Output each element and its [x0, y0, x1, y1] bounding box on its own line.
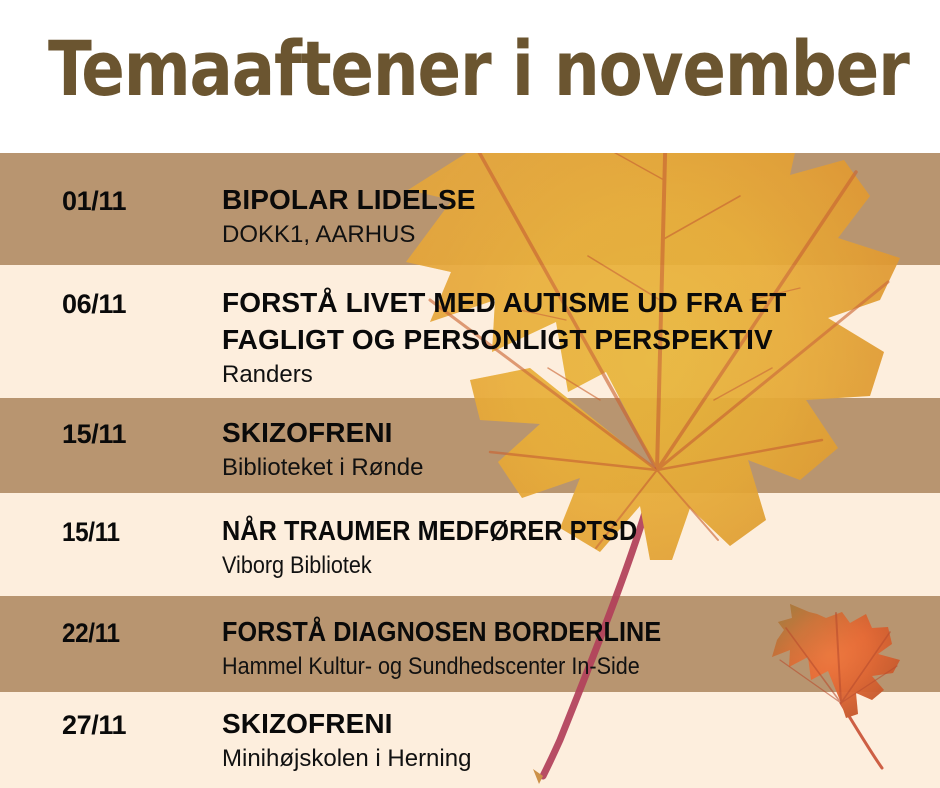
event-venue: Hammel Kultur- og Sundhedscenter In-Side — [222, 651, 859, 682]
event-details: BIPOLAR LIDELSE DOKK1, AARHUS — [222, 181, 930, 250]
event-venue: Randers — [222, 359, 930, 390]
poster-canvas: Temaaftener i november 01/11 BIPOLAR LID… — [0, 0, 940, 788]
event-title: NÅR TRAUMER MEDFØRER PTSD — [222, 512, 859, 549]
event-date: 22/11 — [62, 618, 120, 649]
event-date: 15/11 — [62, 517, 120, 548]
event-date: 01/11 — [62, 186, 126, 217]
event-row-4[interactable]: 15/11 NÅR TRAUMER MEDFØRER PTSD Viborg B… — [0, 493, 940, 596]
event-title: SKIZOFRENI — [222, 705, 930, 742]
event-venue: Biblioteket i Rønde — [222, 452, 930, 483]
event-date: 27/11 — [62, 710, 126, 741]
event-date: 06/11 — [62, 289, 126, 320]
event-venue: DOKK1, AARHUS — [222, 219, 930, 250]
poster-header: Temaaftener i november — [0, 0, 940, 153]
event-row-3[interactable]: 15/11 SKIZOFRENI Biblioteket i Rønde — [0, 398, 940, 493]
event-row-2[interactable]: 06/11 FORSTÅ LIVET MED AUTISME UD FRA ET… — [0, 265, 940, 398]
event-details: FORSTÅ LIVET MED AUTISME UD FRA ET FAGLI… — [222, 284, 930, 390]
event-row-1[interactable]: 01/11 BIPOLAR LIDELSE DOKK1, AARHUS — [0, 153, 940, 265]
event-row-5[interactable]: 22/11 FORSTÅ DIAGNOSEN BORDERLINE Hammel… — [0, 596, 940, 692]
event-venue: Viborg Bibliotek — [222, 550, 859, 581]
event-details: SKIZOFRENI Minihøjskolen i Herning — [222, 705, 930, 774]
event-details: NÅR TRAUMER MEDFØRER PTSD Viborg Bibliot… — [222, 512, 930, 581]
event-details: FORSTÅ DIAGNOSEN BORDERLINE Hammel Kultu… — [222, 613, 930, 682]
event-title: SKIZOFRENI — [222, 414, 930, 451]
page-title: Temaaftener i november — [48, 27, 909, 111]
event-date: 15/11 — [62, 419, 126, 450]
event-venue: Minihøjskolen i Herning — [222, 743, 930, 774]
event-details: SKIZOFRENI Biblioteket i Rønde — [222, 414, 930, 483]
event-row-6[interactable]: 27/11 SKIZOFRENI Minihøjskolen i Herning — [0, 692, 940, 788]
event-title: FORSTÅ LIVET MED AUTISME UD FRA ET FAGLI… — [222, 284, 930, 358]
event-title: FORSTÅ DIAGNOSEN BORDERLINE — [222, 613, 859, 650]
event-title: BIPOLAR LIDELSE — [222, 181, 930, 218]
